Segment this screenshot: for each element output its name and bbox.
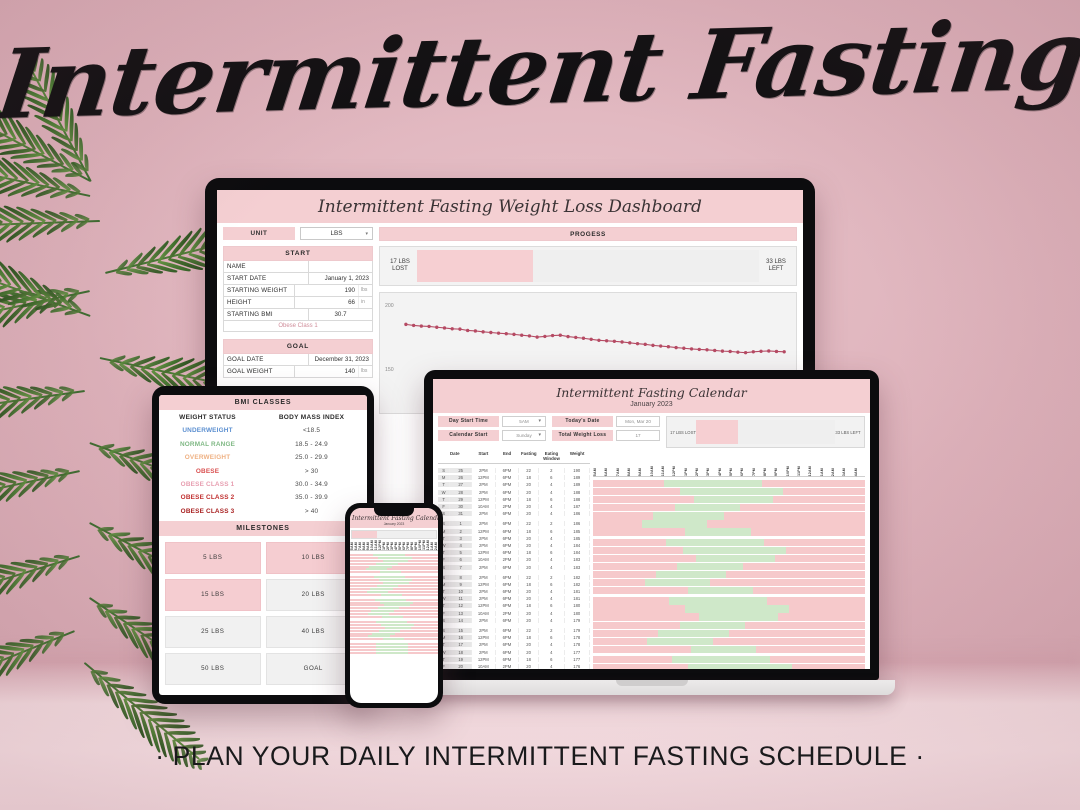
day-end: 6PM [496, 521, 520, 526]
phone-progress-bar [351, 530, 437, 539]
eating-window-bar [683, 547, 786, 554]
hour-label: 1AM [820, 468, 831, 476]
column-header: Eating Window [539, 451, 565, 461]
day-eating: 6 [539, 475, 564, 480]
eating-window-bar [385, 627, 411, 629]
phone-week-bars [350, 621, 438, 640]
eating-window-bar [688, 664, 791, 669]
week-group: S82PM6PM222182M912PM6PM186182T102PM6PM20… [438, 574, 590, 624]
day-date: 31 [450, 511, 472, 516]
day-weight: 185 [565, 536, 590, 541]
day-fasting: 18 [519, 635, 539, 640]
week-bars [593, 656, 865, 669]
fasting-bar [350, 643, 438, 645]
table-row[interactable]: M212PM6PM186185 [438, 528, 590, 535]
bmi-status: OBESE [159, 464, 256, 477]
day-eating: 4 [539, 650, 564, 655]
day-end: 6PM [496, 642, 520, 647]
day-weight: 181 [565, 596, 590, 601]
day-eating: 2 [539, 468, 564, 473]
progress-lost-label: 17 LBS LOST [670, 430, 696, 435]
table-row[interactable]: GOAL WEIGHT 140 lbs [223, 366, 373, 378]
milestone-cell[interactable]: 50 LBS [165, 653, 261, 685]
day-fasting: 20 [519, 565, 539, 570]
day-weight: 178 [565, 635, 590, 640]
day-start-time-control[interactable]: Day Start Time 5AM ▾ [438, 416, 546, 427]
day-eating: 6 [539, 657, 564, 662]
day-end: 6PM [496, 582, 520, 587]
hour-label: 11PM [797, 466, 808, 476]
day-fasting: 18 [519, 475, 539, 480]
fasting-bar [350, 649, 438, 651]
column-header: Weight [564, 451, 590, 461]
week-group: S252PM6PM222190M2612PM6PM186189T272PM6PM… [438, 467, 590, 517]
eating-window-bar [647, 638, 712, 645]
milestone-cell[interactable]: 15 LBS [165, 579, 261, 611]
row-value: 66 [294, 297, 358, 308]
day-fasting: 18 [519, 582, 539, 587]
phone-week-bars [350, 554, 438, 573]
day-start: 12PM [472, 497, 496, 502]
fasting-bar [593, 528, 865, 535]
day-weight: 177 [565, 657, 590, 662]
table-row: OBESE CLASS 130.0 - 34.9 [159, 478, 367, 491]
day-eating: 2 [539, 575, 564, 580]
phone-fasting-bars [350, 554, 438, 654]
week-group: S152PM6PM222179M1612PM6PM186178T172PM6PM… [438, 627, 590, 669]
fasting-bar [350, 560, 438, 562]
phone-week-bars [350, 599, 438, 618]
eating-window-bar [384, 604, 410, 606]
milestone-cell[interactable]: 5 LBS [165, 542, 261, 574]
day-date: 20 [450, 664, 472, 669]
starting-bmi-label: STARTING BMI [224, 309, 308, 320]
unit-select[interactable]: LBS ▾ [300, 227, 373, 240]
day-end: 6PM [496, 511, 520, 516]
fasting-bar [593, 504, 865, 511]
table-row[interactable]: T272PM6PM204189 [438, 481, 590, 488]
table-row[interactable]: F1310AM2PM204180 [438, 610, 590, 617]
day-start: 2PM [472, 575, 496, 580]
eating-window-bar [379, 579, 412, 581]
day-date: 14 [450, 618, 472, 623]
palm-frond [0, 200, 101, 250]
hour-label: 10PM [786, 466, 797, 476]
day-eating: 4 [539, 482, 564, 487]
eating-window-bar [374, 576, 406, 578]
hour-label: 10AM [650, 466, 661, 476]
fasting-bar [593, 520, 865, 527]
day-weight: 176 [565, 664, 590, 669]
day-eating: 6 [539, 550, 564, 555]
phone-sheet: Intermittent Fasting Calendar January 20… [350, 508, 438, 703]
eating-window-bar [369, 566, 392, 568]
table-row[interactable]: T1912PM6PM186177 [438, 656, 590, 663]
day-fasting: 18 [519, 497, 539, 502]
calendar-controls-right: Today's Date Mon, Mar 20 Total Weight Lo… [552, 416, 660, 444]
day-eating: 4 [539, 596, 564, 601]
day-eating: 4 [539, 557, 564, 562]
day-date: 13 [450, 611, 472, 616]
day-start: 2PM [472, 650, 496, 655]
hour-label: 6PM [740, 468, 751, 476]
day-fasting: 20 [519, 589, 539, 594]
bmi-range: <18.5 [256, 424, 367, 437]
laptop-base [408, 680, 895, 695]
hour-label: 8PM [763, 468, 774, 476]
day-end: 6PM [496, 628, 520, 633]
day-start-time-select[interactable]: 5AM ▾ [502, 416, 546, 427]
eating-window-bar [677, 563, 742, 570]
table-row[interactable]: S252PM6PM222190 [438, 467, 590, 474]
day-end: 6PM [496, 596, 520, 601]
day-eating: 4 [539, 490, 564, 495]
bmi-status: OBESE CLASS 1 [159, 478, 256, 491]
day-eating: 4 [539, 504, 564, 509]
progress-fill [696, 420, 738, 444]
table-row[interactable]: STARTING WEIGHT 190 lbs [223, 285, 373, 297]
day-eating: 4 [539, 565, 564, 570]
table-row: OBESE CLASS 3> 40 [159, 504, 367, 517]
bmi-status: OBESE CLASS 3 [159, 504, 256, 517]
control-label: Calendar Start [438, 430, 499, 441]
eating-window-bar [664, 480, 762, 487]
fasting-bar [593, 622, 865, 629]
fasting-bar [593, 563, 865, 570]
day-date: 25 [450, 468, 472, 473]
phone-calendar-month: January 2023 [352, 522, 436, 526]
day-start: 2PM [472, 628, 496, 633]
day-end: 6PM [496, 565, 520, 570]
table-row: OVERWEIGHT25.0 - 29.9 [159, 451, 367, 464]
eating-window-bar [378, 557, 411, 559]
table-row[interactable]: GOAL DATE December 31, 2023 [223, 354, 373, 366]
table-row[interactable]: T2912PM6PM186188 [438, 496, 590, 503]
day-date: 5 [450, 550, 472, 555]
day-date: 9 [450, 582, 472, 587]
eating-window-bar [642, 520, 707, 527]
fasting-bar [350, 594, 438, 596]
laptop-device-calendar: Intermittent Fasting Calendar January 20… [424, 370, 879, 695]
day-end: 6PM [496, 635, 520, 640]
day-start: 2PM [472, 642, 496, 647]
table-row[interactable]: F3010AM2PM204187 [438, 503, 590, 510]
day-end: 6PM [496, 482, 520, 487]
hour-label: 4AM [854, 468, 865, 476]
table-row[interactable]: HEIGHT 66 in [223, 297, 373, 309]
day-end: 6PM [496, 550, 520, 555]
table-row[interactable]: T512PM6PM186184 [438, 549, 590, 556]
day-weight: 188 [565, 497, 590, 502]
phone-week-bars [350, 576, 438, 595]
eating-window-bar [685, 528, 750, 535]
total-weight-loss-value: 17 [616, 430, 660, 441]
day-weight: 189 [565, 475, 590, 480]
day-end: 2PM [496, 557, 520, 562]
eating-window-bar [381, 594, 402, 596]
hour-label: 3AM [842, 468, 853, 476]
day-fasting: 20 [519, 543, 539, 548]
day-start: 2PM [472, 468, 496, 473]
day-weight: 180 [565, 611, 590, 616]
day-date: 18 [450, 650, 472, 655]
day-end: 6PM [496, 657, 520, 662]
calendar-column-headers: DateStartEndFastingEating WindowWeight [438, 451, 590, 464]
day-weight: 182 [565, 575, 590, 580]
row-label: START DATE [224, 273, 308, 284]
progress-lost-label: 17 LBS LOST [383, 259, 417, 274]
table-row[interactable]: S312PM6PM204186 [438, 510, 590, 517]
eating-window-bar [383, 638, 404, 640]
day-start: 10AM [472, 504, 496, 509]
day-date: 27 [450, 482, 472, 487]
control-label: Total Weight Loss [552, 430, 613, 441]
row-unit: in [358, 297, 372, 308]
hour-label: 8AM [627, 468, 638, 476]
y-axis-tick: 150 [385, 367, 394, 373]
fasting-bar [350, 599, 438, 601]
hour-label: 12PM [672, 466, 683, 476]
day-weight: 186 [565, 521, 590, 526]
fasting-bar [593, 630, 865, 637]
eating-window-bar [380, 571, 401, 573]
phone-screen: Intermittent Fasting Calendar January 20… [350, 508, 438, 703]
fasting-bar [350, 585, 438, 587]
day-start: 2PM [472, 618, 496, 623]
eating-window-bar [373, 554, 405, 556]
day-eating: 4 [539, 589, 564, 594]
fasting-bar [350, 621, 438, 623]
day-eating: 4 [539, 618, 564, 623]
day-date: 8 [450, 575, 472, 580]
column-header: Fasting [519, 451, 539, 461]
day-date: 16 [450, 635, 472, 640]
todays-date-value: Mon, Mar 20 [616, 416, 660, 427]
day-date: 11 [450, 596, 472, 601]
day-start: 2PM [472, 589, 496, 594]
dashboard-title: Intermittent Fasting Weight Loss Dashboa… [217, 190, 803, 223]
table-row[interactable]: S72PM6PM204183 [438, 563, 590, 570]
day-start: 2PM [472, 565, 496, 570]
fasting-bar [593, 605, 865, 612]
eating-window-bar [381, 624, 414, 626]
eating-window-bar [371, 610, 394, 612]
eating-window-bar [680, 622, 745, 629]
calendar-header: Intermittent Fasting Calendar January 20… [433, 379, 870, 413]
hour-label: 5PM [729, 468, 740, 476]
day-end: 2PM [496, 504, 520, 509]
eating-window-bar [370, 588, 393, 590]
day-fasting: 20 [519, 557, 539, 562]
day-end: 6PM [496, 468, 520, 473]
calendar-progress-bar: 17 LBS LOST 33 LBS LEFT [666, 416, 865, 448]
day-date: 19 [450, 657, 472, 662]
table-row[interactable]: W42PM6PM204184 [438, 542, 590, 549]
day-weight: 179 [565, 628, 590, 633]
bmi-range: 30.0 - 34.9 [256, 478, 367, 491]
day-of-week: S [438, 468, 450, 473]
eating-window-bar [383, 582, 409, 584]
fasting-bar [350, 652, 438, 654]
day-fasting: 18 [519, 657, 539, 662]
calendar-start-select[interactable]: Sunday ▾ [502, 430, 546, 441]
hour-label: 6AM [604, 468, 615, 476]
eating-window-bar [691, 646, 756, 653]
fasting-bar [593, 555, 865, 562]
calendar-screen: Intermittent Fasting Calendar January 20… [433, 379, 870, 669]
table-row[interactable]: S142PM6PM204179 [438, 617, 590, 624]
calendar-rows: S252PM6PM222190M2612PM6PM186189T272PM6PM… [438, 467, 590, 669]
day-fasting: 18 [519, 550, 539, 555]
day-weight: 178 [565, 642, 590, 647]
eating-window-bar [699, 613, 778, 620]
calendar-sheet: Intermittent Fasting Calendar January 20… [433, 379, 870, 669]
eating-window-bar [375, 599, 407, 601]
row-value: 190 [294, 285, 358, 296]
table-row[interactable]: T1212PM6PM186180 [438, 602, 590, 609]
day-eating: 2 [539, 521, 564, 526]
table-row[interactable]: START DATE January 1, 2023 [223, 273, 373, 285]
day-start: 12PM [472, 550, 496, 555]
total-weight-loss-control: Total Weight Loss 17 [552, 430, 660, 441]
table-row[interactable]: M912PM6PM186182 [438, 581, 590, 588]
day-of-week: W [438, 490, 450, 495]
fasting-bar [593, 587, 865, 594]
eating-window-bar [675, 504, 740, 511]
fasting-bar [350, 591, 438, 593]
bmi-sheet: BMI CLASSES WEIGHT STATUS BODY MASS INDE… [159, 395, 367, 695]
eating-window-bar [376, 563, 397, 565]
day-end: 6PM [496, 475, 520, 480]
table-row[interactable]: T172PM6PM204178 [438, 641, 590, 648]
fasting-bar [350, 624, 438, 626]
table-row[interactable]: T102PM6PM204181 [438, 588, 590, 595]
day-fasting: 22 [519, 575, 539, 580]
day-start: 2PM [472, 521, 496, 526]
tablet-device-bmi: BMI CLASSES WEIGHT STATUS BODY MASS INDE… [152, 386, 374, 704]
calendar-start-control[interactable]: Calendar Start Sunday ▾ [438, 430, 546, 441]
day-end: 6PM [496, 529, 520, 534]
column-header: Date [438, 451, 472, 461]
eating-window-bar [367, 591, 388, 593]
eating-window-bar [376, 646, 408, 648]
fasting-bar [350, 646, 438, 648]
table-row[interactable]: W112PM6PM204181 [438, 595, 590, 602]
day-fasting: 22 [519, 628, 539, 633]
column-header-bmi: BODY MASS INDEX [256, 410, 367, 424]
hour-label: 7AM [616, 468, 627, 476]
day-start: 2PM [472, 536, 496, 541]
hour-label: 4PM [718, 468, 729, 476]
table-row[interactable]: W282PM6PM204188 [438, 489, 590, 496]
eating-window-bar [376, 643, 408, 645]
todays-date-control: Today's Date Mon, Mar 20 [552, 416, 660, 427]
eating-window-bar [685, 605, 788, 612]
fasting-bar [593, 488, 865, 495]
table-row[interactable]: M2612PM6PM186189 [438, 474, 590, 481]
day-end: 6PM [496, 589, 520, 594]
fasting-bar [593, 579, 865, 586]
day-fasting: 20 [519, 650, 539, 655]
table-row[interactable]: T32PM6PM204185 [438, 535, 590, 542]
table-row[interactable]: W182PM6PM204177 [438, 649, 590, 656]
day-start: 10AM [472, 664, 496, 669]
day-eating: 6 [539, 603, 564, 608]
table-row[interactable]: F2010AM2PM204176 [438, 663, 590, 669]
day-end: 6PM [496, 497, 520, 502]
eating-window-bar [376, 652, 408, 654]
table-row[interactable]: NAME [223, 261, 373, 273]
table-row[interactable]: M1612PM6PM186178 [438, 634, 590, 641]
fasting-bar [350, 630, 438, 632]
day-fasting: 20 [519, 664, 539, 669]
row-value: 140 [294, 366, 358, 377]
day-date: 29 [450, 497, 472, 502]
bmi-status: OBESE CLASS 2 [159, 491, 256, 504]
phone-week-bars [350, 643, 438, 654]
milestone-cell[interactable]: 25 LBS [165, 616, 261, 648]
day-fasting: 20 [519, 504, 539, 509]
day-date: 3 [450, 536, 472, 541]
week-bars [593, 597, 865, 653]
fasting-bars [593, 480, 865, 669]
fasting-bar [350, 554, 438, 556]
table-row[interactable]: F610AM2PM204183 [438, 556, 590, 563]
day-weight: 185 [565, 529, 590, 534]
table-row[interactable]: S152PM6PM222179 [438, 627, 590, 634]
eating-window-bar [377, 585, 398, 587]
table-row[interactable]: S82PM6PM222182 [438, 574, 590, 581]
hour-axis: 5AM6AM7AM8AM9AM10AM11AM12PM1PM2PM3PM4PM5… [593, 451, 865, 477]
eating-window-bar [366, 568, 387, 570]
day-end: 2PM [496, 664, 520, 669]
bmi-range: 18.5 - 24.9 [256, 438, 367, 451]
bmi-status: OVERWEIGHT [159, 451, 256, 464]
day-date: 17 [450, 642, 472, 647]
day-weight: 182 [565, 582, 590, 587]
unit-row: UNIT LBS ▾ [223, 227, 373, 240]
week-bars [593, 480, 865, 536]
day-eating: 4 [539, 536, 564, 541]
phone-device-calendar: Intermittent Fasting Calendar January 20… [345, 503, 443, 708]
fasting-bar [350, 571, 438, 573]
day-start: 2PM [472, 511, 496, 516]
column-header: Start [472, 451, 496, 461]
day-date: 30 [450, 504, 472, 509]
fasting-bar [593, 646, 865, 653]
fasting-bar [593, 512, 865, 519]
day-end: 6PM [496, 650, 520, 655]
day-weight: 190 [565, 468, 590, 473]
table-row[interactable]: S12PM6PM222186 [438, 520, 590, 527]
day-weight: 188 [565, 490, 590, 495]
hour-label: 5AM [593, 468, 604, 476]
tablet-bezel: BMI CLASSES WEIGHT STATUS BODY MASS INDE… [152, 386, 374, 704]
calendar-timeline: 5AM6AM7AM8AM9AM10AM11AM12PM1PM2PM3PM4PM5… [593, 451, 865, 669]
fasting-bar [350, 604, 438, 606]
day-weight: 189 [565, 482, 590, 487]
progress-section-header: PROGESS [379, 227, 797, 241]
hour-label: 9PM [774, 468, 785, 476]
bmi-status: NORMAL RANGE [159, 438, 256, 451]
hour-label: 11AM [661, 466, 672, 476]
day-start: 12PM [472, 657, 496, 662]
hour-label: 12AM [808, 466, 819, 476]
day-of-week: T [438, 497, 450, 502]
row-value [308, 261, 372, 272]
week-group: S12PM6PM222186M212PM6PM186185T32PM6PM204… [438, 520, 590, 570]
progress-fill [352, 531, 377, 538]
